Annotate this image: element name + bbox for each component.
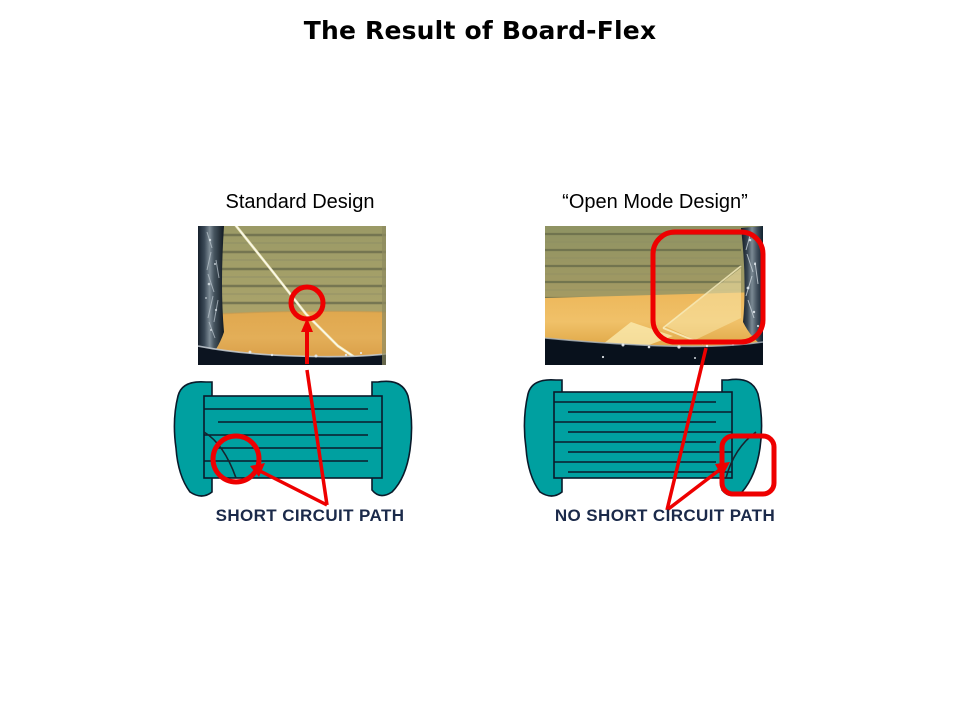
slide-canvas: The Result of Board-Flex Standard Design… [0,0,960,720]
panel-heading-standard: Standard Design [150,191,450,214]
micrograph-standard-image [198,226,386,365]
panel-heading-open-mode: “Open Mode Design” [495,191,815,214]
highlight-circle-capacitor-standard [213,436,259,482]
capacitor-diagram-open-mode [524,379,761,496]
arrow-shaft-capacitor-standard [258,470,327,505]
highlight-box-capacitor-open-mode [722,436,774,494]
connector-line-standard [307,370,327,505]
micrograph-open-mode-image [545,226,763,365]
capacitor-diagram-standard [174,381,411,496]
connector-line-open-mode [667,348,706,510]
micrograph-open-mode [545,226,763,365]
caption-short-circuit-path: SHORT CIRCUIT PATH [155,506,465,526]
micrograph-standard [198,226,386,365]
arrow-shaft-capacitor-open-mode [667,468,722,510]
caption-no-short-circuit-path: NO SHORT CIRCUIT PATH [505,506,825,526]
arrow-head-capacitor-open-mode [715,462,730,477]
annotation-overlay [0,0,960,720]
arrow-head-capacitor-standard [250,463,265,477]
page-title: The Result of Board-Flex [0,16,960,45]
